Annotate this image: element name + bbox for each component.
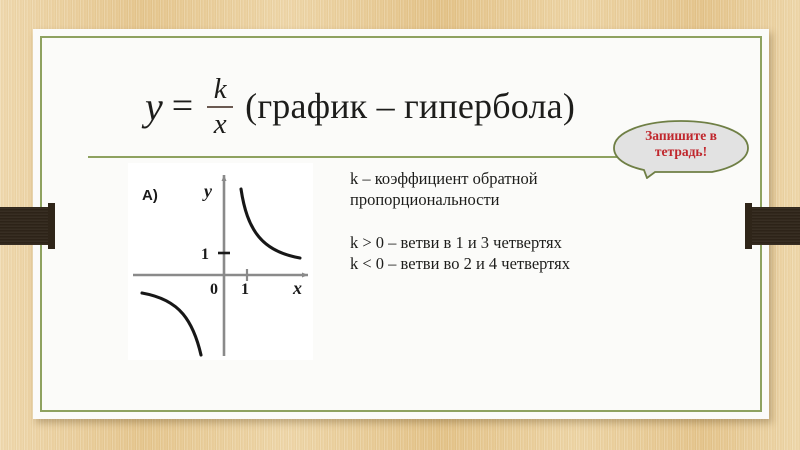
title-divider xyxy=(88,156,696,158)
fraction-numerator: k xyxy=(210,74,231,105)
page-title: y = k x (график – гипербола) xyxy=(60,62,660,150)
body-text-gap xyxy=(350,210,650,232)
body-line-3: k > 0 – ветви в 1 и 3 четвертях xyxy=(350,232,650,253)
ribbon-cap-right xyxy=(745,203,752,249)
callout-line-2: тетрадь! xyxy=(611,144,751,160)
ribbon-cap-left xyxy=(48,203,55,249)
body-line-4: k < 0 – ветви во 2 и 4 четвертях xyxy=(350,253,650,274)
figure-item-label: А) xyxy=(142,187,158,204)
body-line-1: k – коэффициент обратной xyxy=(350,168,650,189)
formula-variable-y: y xyxy=(145,83,163,130)
ribbon-bar-left xyxy=(0,207,52,245)
callout-text: Запишите в тетрадь! xyxy=(611,128,751,160)
title-formula: y = k x (график – гипербола) xyxy=(145,73,575,139)
formula-fraction: k x xyxy=(207,74,233,140)
fraction-denominator: x xyxy=(210,109,231,140)
axis-y-label: y xyxy=(202,181,213,201)
hyperbola-graph-figure: А) y x 1 0 1 xyxy=(128,163,313,360)
body-text-block: k – коэффициент обратной пропорционально… xyxy=(350,168,650,274)
ribbon-bar-right xyxy=(748,207,800,245)
callout-line-1: Запишите в xyxy=(611,128,751,144)
tick-y-1-label: 1 xyxy=(201,246,209,263)
callout-bubble: Запишите в тетрадь! xyxy=(611,119,751,179)
tick-x-1-label: 1 xyxy=(241,281,249,298)
title-subtext: (график – гипербола) xyxy=(245,85,575,127)
origin-label: 0 xyxy=(210,281,218,298)
formula-equals-sign: = xyxy=(172,84,193,128)
hyperbola-chart-icon: А) y x 1 0 1 xyxy=(128,163,313,360)
axis-x-label: x xyxy=(292,278,302,298)
body-line-2: пропорциональности xyxy=(350,189,650,210)
slide-stage: y = k x (график – гипербола) xyxy=(0,0,800,450)
